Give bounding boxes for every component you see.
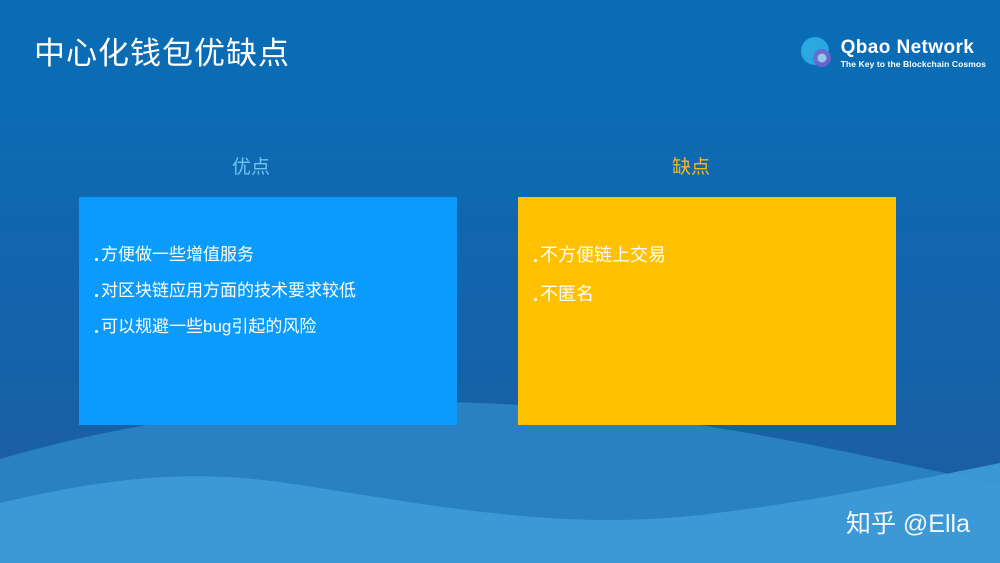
- list-item-label: 可以规避一些bug引起的风险: [101, 317, 316, 336]
- list-item-label: 不方便链上交易: [540, 245, 666, 265]
- brand-logo: Qbao Network The Key to the Blockchain C…: [800, 36, 986, 70]
- list-item: 不匿名: [534, 284, 896, 304]
- list-item: 不方便链上交易: [534, 245, 896, 265]
- list-item-label: 对区块链应用方面的技术要求较低: [101, 281, 356, 300]
- bullet-dot-icon: [95, 258, 98, 261]
- list-item: 对区块链应用方面的技术要求较低: [95, 281, 457, 300]
- brand-tagline: The Key to the Blockchain Cosmos: [841, 60, 986, 69]
- bullet-dot-icon: [534, 259, 537, 262]
- column-heading-pros: 优点: [232, 155, 270, 181]
- list-item-label: 不匿名: [540, 284, 594, 304]
- bullet-dot-icon: [95, 330, 98, 333]
- brand-logo-text: Qbao Network The Key to the Blockchain C…: [841, 38, 986, 69]
- watermark: 知乎 @Ella: [846, 509, 970, 539]
- pros-bullet-list: 方便做一些增值服务 对区块链应用方面的技术要求较低 可以规避一些bug引起的风险: [95, 245, 457, 336]
- bullet-dot-icon: [95, 294, 98, 297]
- pros-panel: 方便做一些增值服务 对区块链应用方面的技术要求较低 可以规避一些bug引起的风险: [79, 197, 457, 425]
- slide-canvas: 中心化钱包优缺点 Qbao Network The Key to the Blo…: [0, 0, 1000, 563]
- bullet-dot-icon: [534, 298, 537, 301]
- list-item: 可以规避一些bug引起的风险: [95, 317, 457, 336]
- brand-name: Qbao Network: [841, 38, 986, 57]
- qbao-circles-icon: [800, 36, 834, 70]
- cons-panel: 不方便链上交易 不匿名: [518, 197, 896, 425]
- list-item-label: 方便做一些增值服务: [101, 245, 254, 264]
- list-item: 方便做一些增值服务: [95, 245, 457, 264]
- column-heading-cons: 缺点: [672, 155, 710, 181]
- cons-bullet-list: 不方便链上交易 不匿名: [534, 245, 896, 304]
- page-title: 中心化钱包优缺点: [34, 30, 290, 78]
